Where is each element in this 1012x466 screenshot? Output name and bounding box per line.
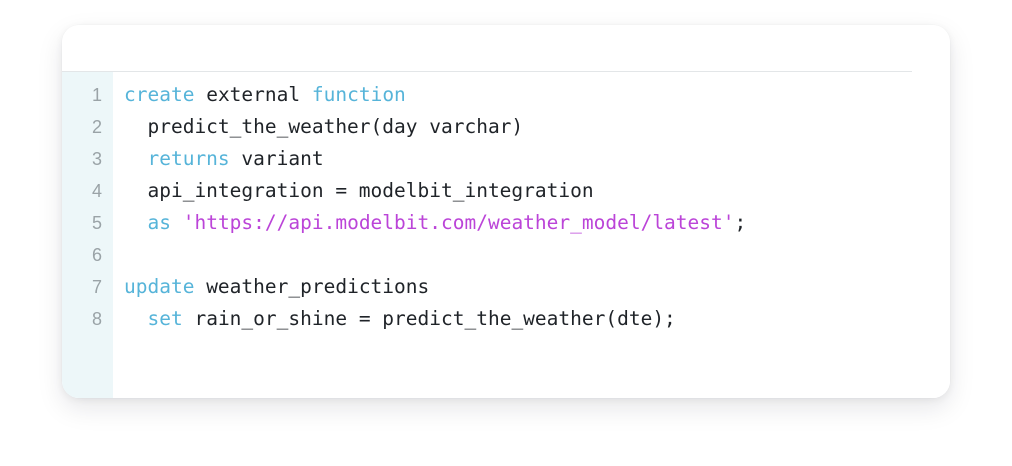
code-token-txt: api_integration = modelbit_integration (124, 179, 594, 202)
code-snippet-card: 12345678 create external function predic… (62, 25, 950, 398)
page-root: 12345678 create external function predic… (0, 0, 1012, 466)
code-token-punc: ; (735, 211, 747, 234)
code-token-txt: external (206, 83, 300, 106)
line-number: 4 (62, 175, 113, 207)
code-token-txt (124, 147, 147, 170)
code-token-txt (300, 83, 312, 106)
code-token-kw: create (124, 83, 194, 106)
code-token-txt: variant (230, 147, 324, 170)
code-line[interactable]: predict_the_weather(day varchar) (124, 111, 950, 143)
code-content-area[interactable]: create external function predict_the_wea… (113, 72, 950, 398)
code-token-kw: as (147, 211, 170, 234)
code-line[interactable]: as 'https://api.modelbit.com/weather_mod… (124, 207, 950, 239)
code-token-txt: predict_the_weather(day varchar) (124, 115, 523, 138)
line-number: 5 (62, 207, 113, 239)
code-line[interactable]: returns variant (124, 143, 950, 175)
code-token-txt (124, 211, 147, 234)
code-token-kw: set (147, 307, 182, 330)
code-token-kw: function (312, 83, 406, 106)
line-number: 2 (62, 111, 113, 143)
code-line[interactable]: create external function (124, 79, 950, 111)
code-token-kw: update (124, 275, 194, 298)
line-number: 3 (62, 143, 113, 175)
line-number-gutter: 12345678 (62, 72, 113, 398)
code-token-str: 'https://api.modelbit.com/weather_model/… (183, 211, 735, 234)
code-token-txt (171, 211, 183, 234)
line-number: 8 (62, 303, 113, 335)
code-token-txt (194, 83, 206, 106)
card-header-toolbar (62, 25, 950, 72)
code-line[interactable]: update weather_predictions (124, 271, 950, 303)
code-token-txt (124, 307, 147, 330)
code-line[interactable]: api_integration = modelbit_integration (124, 175, 950, 207)
line-number: 1 (62, 79, 113, 111)
code-line[interactable] (124, 239, 950, 271)
code-token-txt: weather_predictions (194, 275, 429, 298)
code-token-txt: rain_or_shine = predict_the_weather(dte)… (183, 307, 676, 330)
code-token-kw: returns (147, 147, 229, 170)
code-editor[interactable]: 12345678 create external function predic… (62, 72, 950, 398)
line-number: 6 (62, 239, 113, 271)
line-number: 7 (62, 271, 113, 303)
code-line[interactable]: set rain_or_shine = predict_the_weather(… (124, 303, 950, 335)
header-divider (62, 71, 912, 72)
